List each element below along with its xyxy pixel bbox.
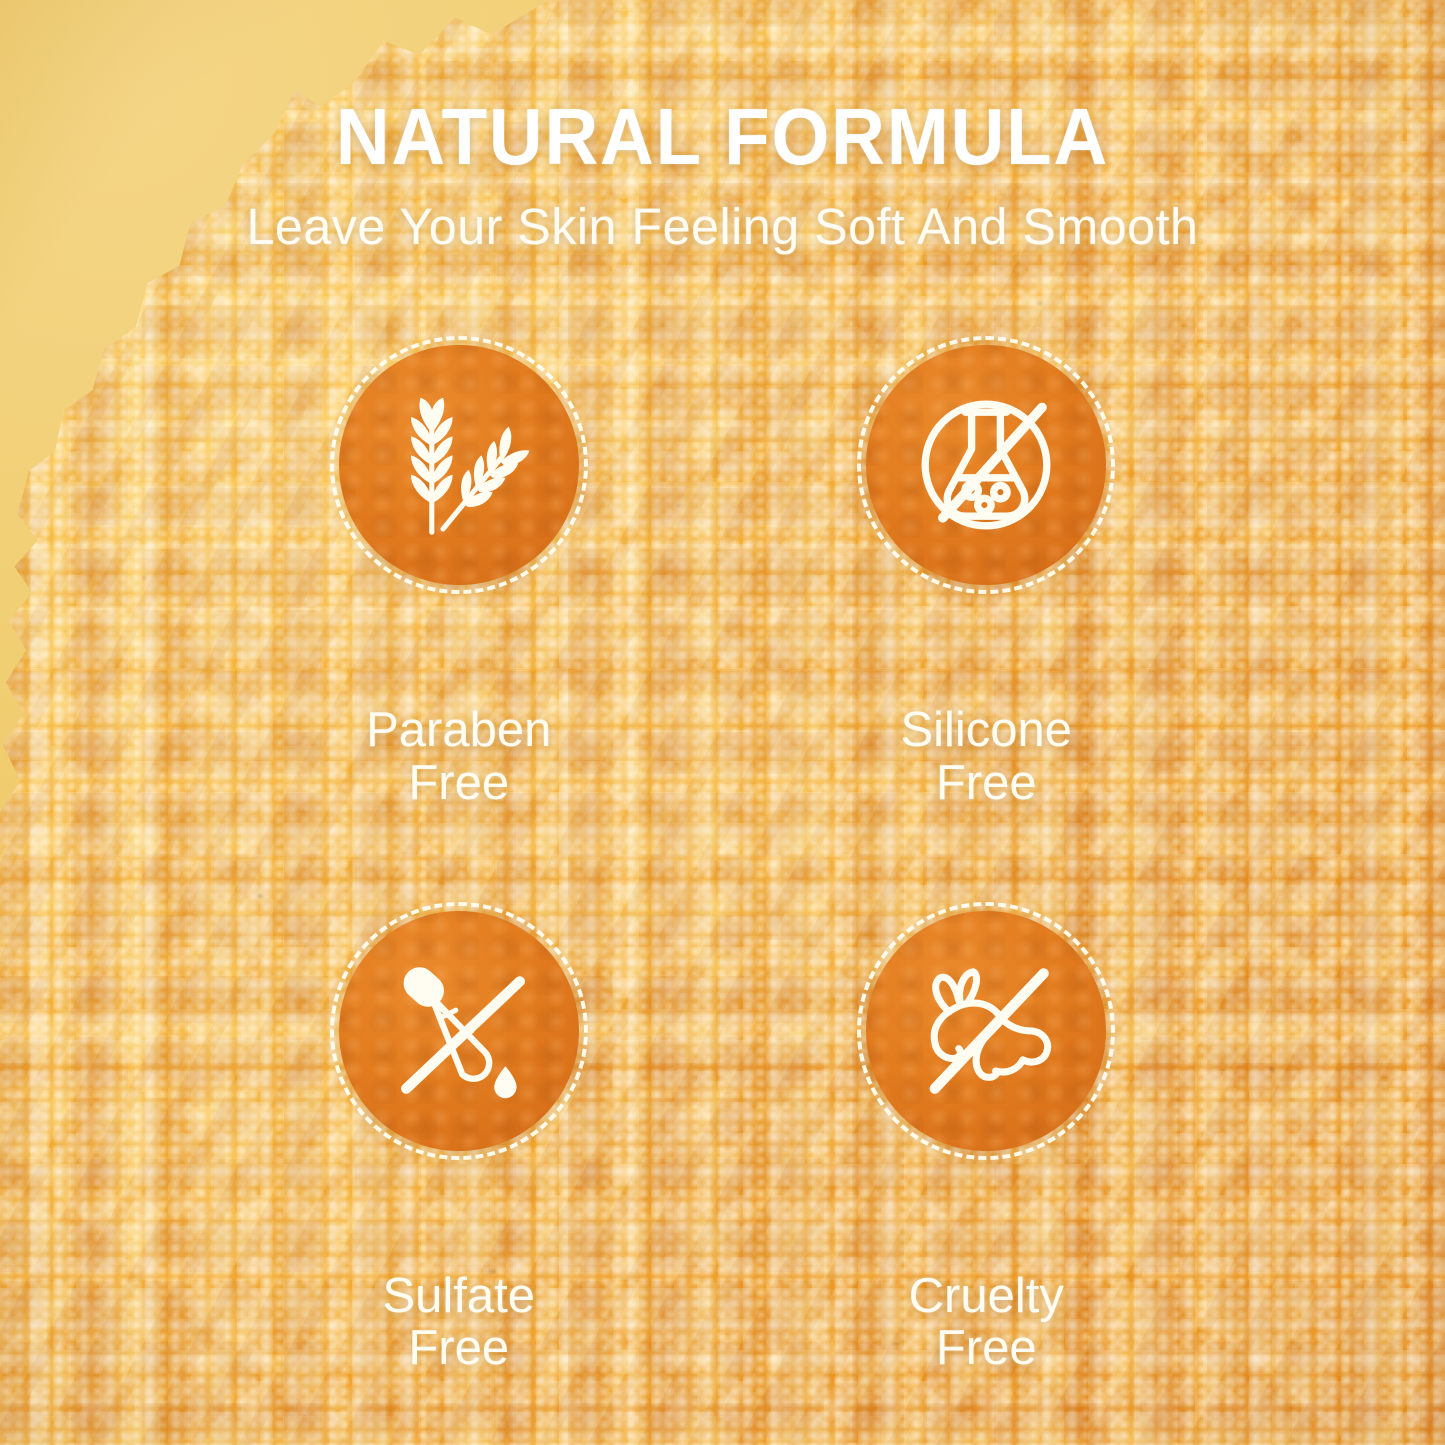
badge-label: Sulfate Free [382, 1217, 535, 1429]
badge-label-line1: Paraben [366, 703, 551, 757]
headings-block: NATURAL FORMULA Leave Your Skin Feeling … [0, 96, 1445, 253]
badge-label-line2: Free [900, 757, 1072, 810]
page-subtitle: Leave Your Skin Feeling Soft And Smooth [11, 200, 1434, 254]
no-flask-icon [906, 385, 1066, 545]
badge-disc [339, 911, 579, 1151]
no-rabbit-icon [906, 951, 1066, 1111]
badge-silicone-free[interactable]: Silicone Free [723, 345, 1251, 863]
badge-label-line1: Cruelty [909, 1269, 1064, 1323]
feature-badge-grid: Paraben Free [0, 345, 1445, 1428]
badge-label-line2: Free [366, 757, 551, 810]
badge-paraben-free[interactable]: Paraben Free [195, 345, 723, 863]
badge-disc [866, 345, 1106, 585]
page-title: NATURAL FORMULA [51, 96, 1395, 178]
badge-disc [866, 911, 1106, 1151]
badge-cruelty-free[interactable]: Cruelty Free [723, 911, 1251, 1429]
badge-sulfate-free[interactable]: Sulfate Free [195, 911, 723, 1429]
promo-graphic: NATURAL FORMULA Leave Your Skin Feeling … [0, 0, 1445, 1445]
badge-disc [339, 345, 579, 585]
badge-label: Cruelty Free [909, 1217, 1064, 1429]
badge-label-line1: Silicone [900, 703, 1072, 757]
badge-label-line2: Free [382, 1322, 535, 1375]
badge-label-line1: Sulfate [382, 1269, 535, 1323]
badge-label: Paraben Free [366, 651, 551, 863]
no-dropper-icon [379, 951, 539, 1111]
badge-label: Silicone Free [900, 651, 1072, 863]
badge-label-line2: Free [909, 1322, 1064, 1375]
wheat-icon [379, 385, 539, 545]
